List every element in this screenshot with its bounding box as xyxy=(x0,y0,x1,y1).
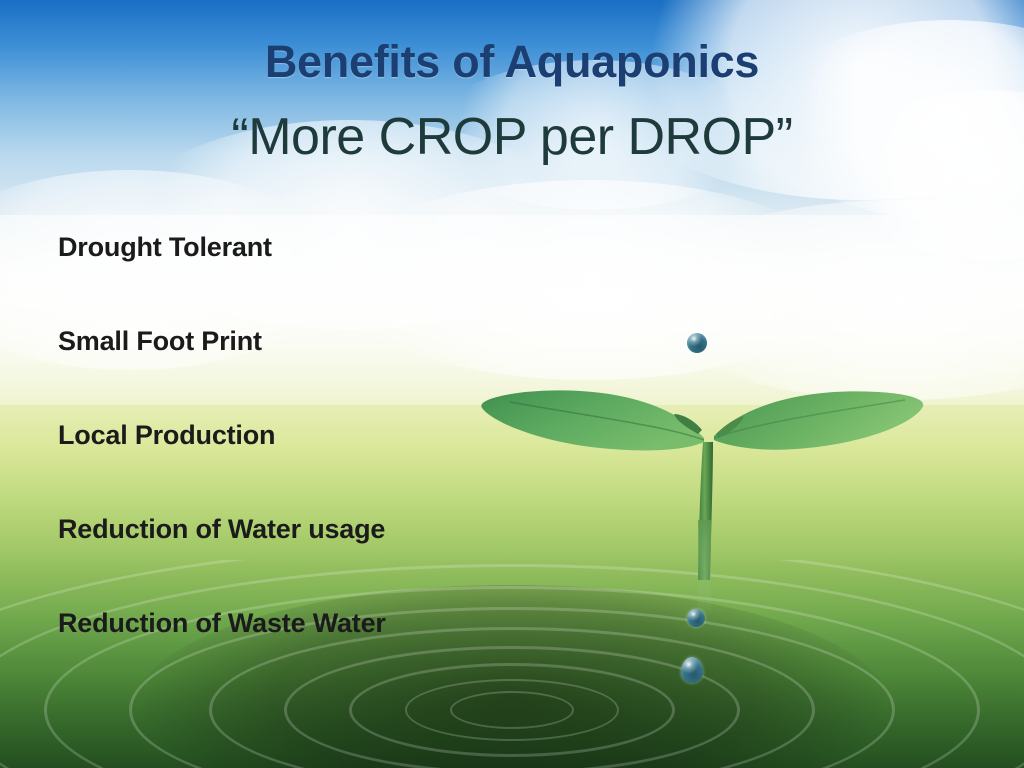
stem-reflection xyxy=(698,520,711,615)
list-item: Small Foot Print xyxy=(58,326,578,357)
list-item: Reduction of Waste Water xyxy=(58,608,578,639)
list-item: Local Production xyxy=(58,420,578,451)
list-item: Reduction of Water usage xyxy=(58,514,578,545)
droplet-mid-icon xyxy=(687,609,705,627)
leaf-right xyxy=(714,391,923,449)
benefits-list: Drought Tolerant Small Foot Print Local … xyxy=(58,232,578,639)
page-title: Benefits of Aquaponics xyxy=(0,36,1024,88)
list-item: Drought Tolerant xyxy=(58,232,578,263)
page-subtitle: “More CROP per DROP” xyxy=(0,107,1024,167)
droplet-upper-icon xyxy=(687,333,707,353)
slide-canvas: Benefits of Aquaponics “More CROP per DR… xyxy=(0,0,1024,768)
droplet-lower-icon xyxy=(681,657,703,683)
